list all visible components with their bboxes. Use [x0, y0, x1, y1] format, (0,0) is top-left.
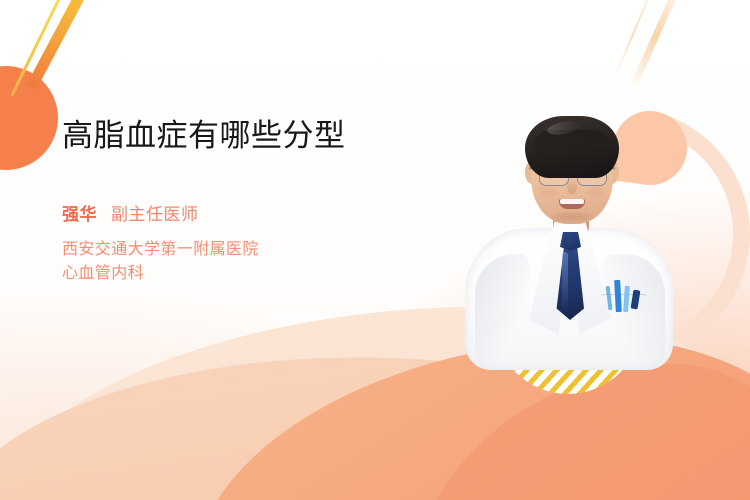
diagonal-cream-stroke-thin-icon — [615, 0, 660, 76]
solid-orange-circle-icon — [0, 66, 58, 170]
doctor-affiliation: 西安交通大学第一附属医院 心血管内科 — [62, 238, 412, 286]
wave-band-mid — [0, 349, 750, 500]
cheek-left — [539, 186, 557, 198]
hospital-name: 西安交通大学第一附属医院 — [62, 238, 412, 262]
chin-shadow — [551, 212, 593, 222]
text-content-block: 高脂血症有哪些分型 强华 副主任医师 西安交通大学第一附属医院 心血管内科 — [62, 118, 412, 286]
department-name: 心血管内科 — [62, 262, 412, 286]
coat-shadow-left — [475, 254, 529, 370]
mouth — [559, 199, 585, 209]
cheek-right — [587, 186, 605, 198]
doctor-byline: 强华 副主任医师 — [62, 200, 412, 225]
doctor-name: 强华 — [62, 200, 97, 225]
diagonal-orange-stroke-icon — [26, 0, 88, 90]
diagonal-yellow-stroke-icon — [10, 0, 64, 97]
teeth — [560, 199, 584, 204]
hair-fringe — [533, 130, 611, 154]
doctor-portrait-photo — [455, 104, 685, 362]
video-thumbnail-card: 高脂血症有哪些分型 强华 副主任医师 西安交通大学第一附属医院 心血管内科 — [0, 0, 750, 500]
necktie-highlight — [562, 252, 568, 310]
diagonal-cream-stroke-bottom-icon — [154, 352, 176, 395]
diagonal-cream-stroke-icon — [631, 0, 685, 86]
page-title: 高脂血症有哪些分型 — [62, 118, 392, 154]
doctor-professional-title: 副主任医师 — [111, 200, 199, 225]
